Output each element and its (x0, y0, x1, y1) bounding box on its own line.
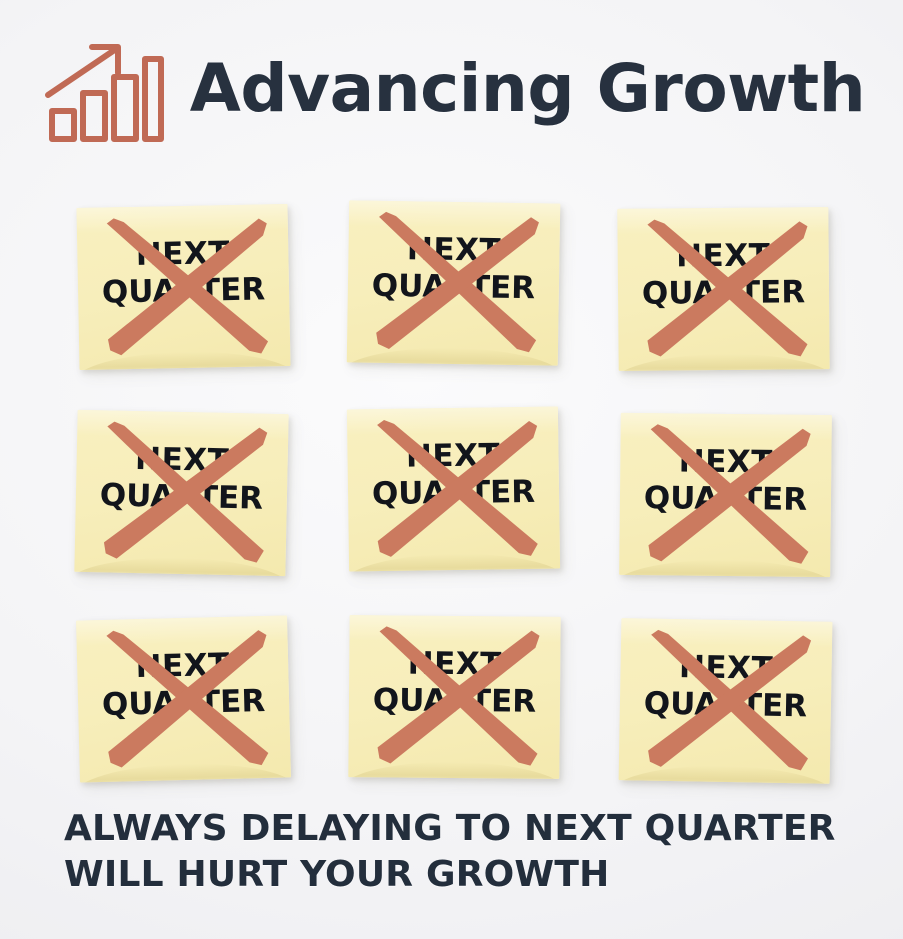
note-text: NEXT QUARTER (349, 645, 561, 720)
sticky-notes-grid: NEXT QUARTER NEXT QUARTER (72, 200, 834, 788)
sticky-note[interactable]: NEXT QUARTER (76, 615, 291, 782)
note-text: NEXT QUARTER (620, 648, 832, 725)
caption-line-2: WILL HURT YOUR GROWTH (64, 852, 864, 898)
note-line-2: QUARTER (620, 685, 832, 725)
note-line-2: QUARTER (78, 682, 290, 724)
caption-line-1: ALWAYS DELAYING TO NEXT QUARTER (64, 806, 864, 852)
note-line-1: NEXT (408, 646, 502, 683)
note-line-2: QUARTER (349, 682, 560, 720)
sticky-note[interactable]: NEXT QUARTER (347, 407, 560, 572)
note-line-1: NEXT (135, 441, 230, 479)
poster-canvas: Advancing Growth NEXT QUARTER NEXT QUART… (0, 0, 903, 939)
sticky-note[interactable]: NEXT QUARTER (619, 413, 832, 577)
note-line-2: QUARTER (348, 267, 560, 307)
note-line-2: QUARTER (620, 479, 831, 518)
note-line-1: NEXT (676, 238, 770, 275)
note-text: NEXT QUARTER (77, 645, 290, 723)
note-line-2: QUARTER (618, 274, 829, 312)
note-line-1: NEXT (679, 649, 774, 687)
note-text: NEXT QUARTER (620, 443, 832, 518)
sticky-note[interactable]: NEXT QUARTER (619, 618, 833, 784)
note-line-2: QUARTER (76, 476, 288, 517)
note-text: NEXT QUARTER (618, 237, 830, 312)
note-line-2: QUARTER (348, 473, 559, 513)
sticky-note[interactable]: NEXT QUARTER (348, 615, 560, 779)
caption: ALWAYS DELAYING TO NEXT QUARTER WILL HUR… (64, 806, 864, 898)
sticky-note[interactable]: NEXT QUARTER (347, 200, 561, 365)
growth-bar-chart-arrow-icon (44, 39, 164, 143)
note-text: NEXT QUARTER (77, 234, 289, 311)
note-line-2: QUARTER (78, 271, 290, 312)
note-text: NEXT QUARTER (76, 440, 288, 518)
note-text: NEXT QUARTER (347, 437, 559, 513)
sticky-note[interactable]: NEXT QUARTER (617, 207, 829, 371)
sticky-note[interactable]: NEXT QUARTER (76, 204, 290, 370)
header: Advancing Growth (0, 0, 903, 178)
note-line-1: NEXT (135, 235, 230, 273)
note-text: NEXT QUARTER (348, 230, 560, 306)
page-title: Advancing Growth (190, 56, 865, 122)
sticky-note[interactable]: NEXT QUARTER (74, 410, 288, 576)
note-line-1: NEXT (406, 437, 501, 474)
note-line-1: NEXT (407, 231, 502, 268)
note-line-1: NEXT (679, 444, 774, 481)
note-line-1: NEXT (135, 647, 230, 685)
